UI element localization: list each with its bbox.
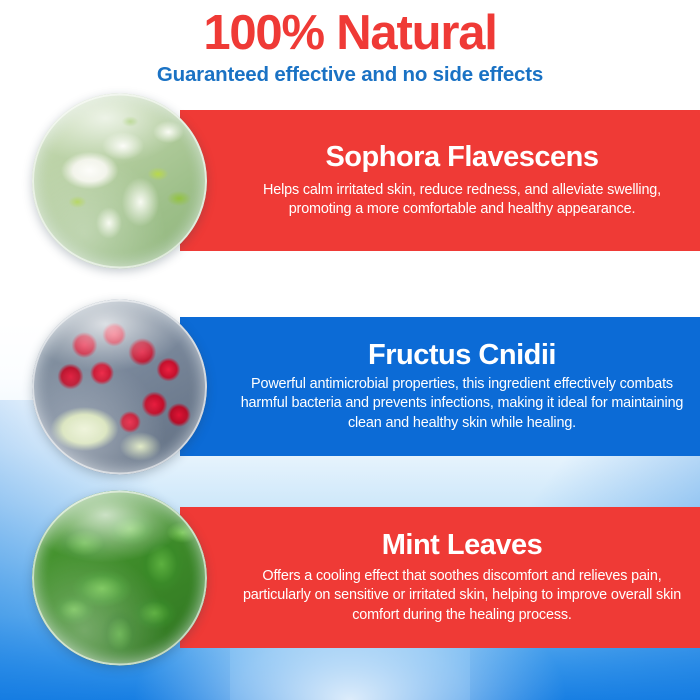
card-text-block: Sophora Flavescens Helps calm irritated … — [238, 110, 686, 251]
card-description: Offers a cooling effect that soothes dis… — [231, 567, 693, 624]
ingredient-infographic: 100% Natural Guaranteed effective and no… — [0, 0, 700, 700]
card-text-block: Fructus Cnidii Powerful antimicrobial pr… — [238, 317, 686, 456]
ingredient-card-sophora-flavescens: Sophora Flavescens Helps calm irritated … — [62, 110, 700, 251]
orb-rim — [32, 490, 207, 665]
page-subtitle: Guaranteed effective and no side effects — [0, 59, 700, 87]
orb-rim — [32, 93, 207, 268]
orb-rim — [32, 299, 207, 474]
fructus-cnidii-photo — [32, 299, 207, 474]
card-title: Mint Leaves — [382, 530, 543, 562]
page-title: 100% Natural — [0, 0, 700, 59]
poster-header: 100% Natural Guaranteed effective and no… — [0, 0, 700, 87]
card-title: Sophora Flavescens — [325, 142, 598, 174]
ingredient-card-fructus-cnidii: Fructus Cnidii Powerful antimicrobial pr… — [62, 317, 700, 456]
card-text-block: Mint Leaves Offers a cooling effect that… — [238, 507, 686, 648]
card-description: Powerful antimicrobial properties, this … — [227, 375, 697, 432]
ingredient-card-mint-leaves: Mint Leaves Offers a cooling effect that… — [62, 507, 700, 648]
card-title: Fructus Cnidii — [368, 340, 556, 372]
sophora-flavescens-photo — [32, 93, 207, 268]
mint-leaves-photo — [32, 490, 207, 665]
card-description: Helps calm irritated skin, reduce rednes… — [257, 181, 667, 219]
